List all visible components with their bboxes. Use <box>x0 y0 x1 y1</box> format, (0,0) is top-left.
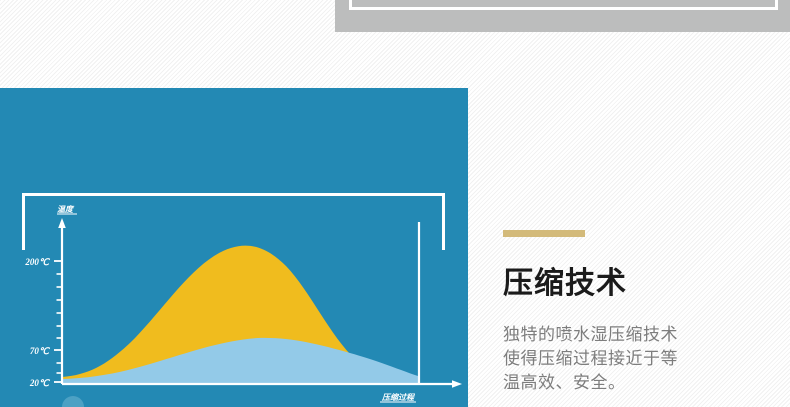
body-description: 独特的喷水湿压缩技术 使得压缩过程接近于等 温高效、安全。 <box>503 323 773 395</box>
y-axis-arrow <box>58 218 66 228</box>
y-tick-label-200: 200℃ <box>24 257 51 267</box>
gold-divider-rule <box>503 230 585 237</box>
page-title: 压缩技术 <box>503 267 773 301</box>
page-root: 200℃ 70℃ 20℃ 温度 压缩过程 压缩技术 独特的喷水湿压缩技术 使得压… <box>0 0 790 407</box>
chart-svg: 200℃ 70℃ 20℃ 温度 压缩过程 <box>0 88 468 407</box>
temperature-compression-chart: 200℃ 70℃ 20℃ 温度 压缩过程 <box>0 88 468 407</box>
x-axis-title: 压缩过程 <box>381 393 416 402</box>
y-axis-title: 温度 <box>57 205 75 214</box>
top-banner-inner-frame <box>349 0 778 10</box>
top-gray-banner <box>335 0 790 32</box>
y-tick-label-20: 20℃ <box>29 378 51 388</box>
feature-text-block: 压缩技术 独特的喷水湿压缩技术 使得压缩过程接近于等 温高效、安全。 <box>503 230 773 395</box>
y-tick-label-70: 70℃ <box>30 346 51 356</box>
x-axis-arrow <box>452 380 462 388</box>
